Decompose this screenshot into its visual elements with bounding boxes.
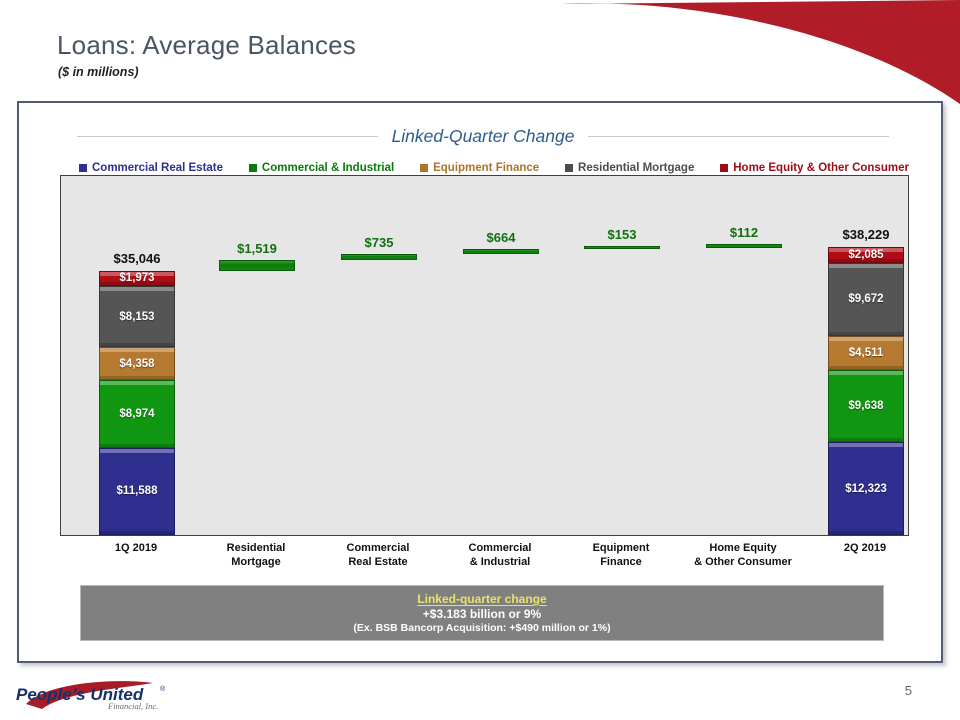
linked-quarter-callout: Linked-quarter change +$3.183 billion or… xyxy=(80,585,884,641)
category-label-3: Commercial& Industrial xyxy=(430,541,570,569)
bar-segment-label: $9,638 xyxy=(848,400,883,412)
category-label-line: Residential xyxy=(186,541,326,555)
category-label-line: Real Estate xyxy=(308,555,448,569)
legend-swatch-icon xyxy=(249,164,257,172)
delta-bar xyxy=(463,249,539,254)
callout-heading: Linked-quarter change xyxy=(417,592,546,606)
corner-swoosh-decoration xyxy=(560,0,960,110)
stacked-bar-first: $1,973$8,153$4,358$8,974$11,588 xyxy=(99,271,175,535)
page-number: 5 xyxy=(905,683,912,698)
bar-segment-label: $2,085 xyxy=(848,249,883,261)
legend-item-2: Equipment Finance xyxy=(420,162,539,174)
bar-segment: $9,672 xyxy=(828,263,904,336)
stacked-bar-last: $2,085$9,672$4,511$9,638$12,323 xyxy=(828,247,904,535)
bar-segment: $8,153 xyxy=(99,286,175,347)
legend-item-0: Commercial Real Estate xyxy=(79,162,223,174)
bar-segment-label: $4,511 xyxy=(849,347,884,359)
legend-item-4: Home Equity & Other Consumer xyxy=(720,162,909,174)
chart-title-row: Linked-Quarter Change xyxy=(77,123,889,149)
callout-line-1: +$3.183 billion or 9% xyxy=(423,607,541,621)
category-label-1: ResidentialMortgage xyxy=(186,541,326,569)
delta-bar xyxy=(219,260,295,271)
delta-bar xyxy=(584,246,660,250)
category-label-line: Commercial xyxy=(308,541,448,555)
chart-title-rule-right xyxy=(588,136,889,137)
bar-segment-label: $8,974 xyxy=(119,408,154,420)
category-label-line: Home Equity xyxy=(673,541,813,555)
category-label-line: Equipment xyxy=(551,541,691,555)
legend-swatch-icon xyxy=(420,164,428,172)
slide: Loans: Average Balances ($ in millions) … xyxy=(0,0,960,720)
bar-segment-label: $4,358 xyxy=(119,358,154,370)
category-label-2: CommercialReal Estate xyxy=(308,541,448,569)
legend-item-label: Commercial Real Estate xyxy=(92,162,223,174)
category-label-line: 2Q 2019 xyxy=(795,541,935,555)
legend-swatch-icon xyxy=(565,164,573,172)
delta-bar-label: $112 xyxy=(730,225,758,240)
callout-line-2: (Ex. BSB Bancorp Acquisition: +$490 mill… xyxy=(353,622,610,634)
bar-segment: $9,638 xyxy=(828,370,904,443)
delta-bar-label: $153 xyxy=(608,227,637,242)
page-title: Loans: Average Balances xyxy=(57,30,356,61)
peoples-united-logo: People’s United ® Financial, Inc. xyxy=(12,678,177,712)
category-label-line: 1Q 2019 xyxy=(66,541,206,555)
bar-segment: $2,085 xyxy=(828,247,904,263)
bar-segment-label: $9,672 xyxy=(848,293,883,305)
bar-segment: $12,323 xyxy=(828,442,904,535)
category-label-0: 1Q 2019 xyxy=(66,541,206,555)
category-label-line: Commercial xyxy=(430,541,570,555)
legend-item-label: Home Equity & Other Consumer xyxy=(733,162,909,174)
delta-bar xyxy=(341,254,417,260)
legend-swatch-icon xyxy=(79,164,87,172)
category-label-line: Mortgage xyxy=(186,555,326,569)
chart-title-rule-left xyxy=(77,136,378,137)
legend-item-label: Commercial & Industrial xyxy=(262,162,394,174)
chart-plot-area: $1,973$8,153$4,358$8,974$11,588$35,046$2… xyxy=(60,175,909,536)
stack-total-label: $35,046 xyxy=(114,251,161,266)
bar-segment: $1,973 xyxy=(99,271,175,286)
category-label-line: & Industrial xyxy=(430,555,570,569)
chart-title: Linked-Quarter Change xyxy=(392,126,575,147)
legend-item-1: Commercial & Industrial xyxy=(249,162,394,174)
delta-bar-label: $664 xyxy=(487,230,516,245)
delta-bar xyxy=(706,244,782,248)
svg-text:®: ® xyxy=(160,685,166,693)
bar-segment: $11,588 xyxy=(99,448,175,535)
bar-segment-label: $12,323 xyxy=(845,483,887,495)
legend-item-label: Equipment Finance xyxy=(433,162,539,174)
legend-item-3: Residential Mortgage xyxy=(565,162,694,174)
svg-text:Financial, Inc.: Financial, Inc. xyxy=(107,701,158,711)
category-label-5: Home Equity& Other Consumer xyxy=(673,541,813,569)
bar-segment-label: $1,973 xyxy=(119,272,154,284)
bar-segment: $8,974 xyxy=(99,380,175,448)
category-label-line: Finance xyxy=(551,555,691,569)
bar-segment: $4,511 xyxy=(828,336,904,370)
bar-segment: $4,358 xyxy=(99,347,175,380)
chart-panel: Linked-Quarter Change Commercial Real Es… xyxy=(17,101,943,663)
bar-segment-label: $8,153 xyxy=(119,311,154,323)
bar-segment-label: $11,588 xyxy=(117,485,158,497)
delta-bar-label: $1,519 xyxy=(237,241,277,256)
delta-bar-label: $735 xyxy=(365,235,394,250)
stack-total-label: $38,229 xyxy=(843,227,890,242)
legend-item-label: Residential Mortgage xyxy=(578,162,694,174)
category-label-line: & Other Consumer xyxy=(673,555,813,569)
category-label-4: EquipmentFinance xyxy=(551,541,691,569)
category-axis: 1Q 2019ResidentialMortgageCommercialReal… xyxy=(60,541,909,577)
page-subtitle: ($ in millions) xyxy=(58,65,139,79)
category-label-6: 2Q 2019 xyxy=(795,541,935,555)
legend-swatch-icon xyxy=(720,164,728,172)
